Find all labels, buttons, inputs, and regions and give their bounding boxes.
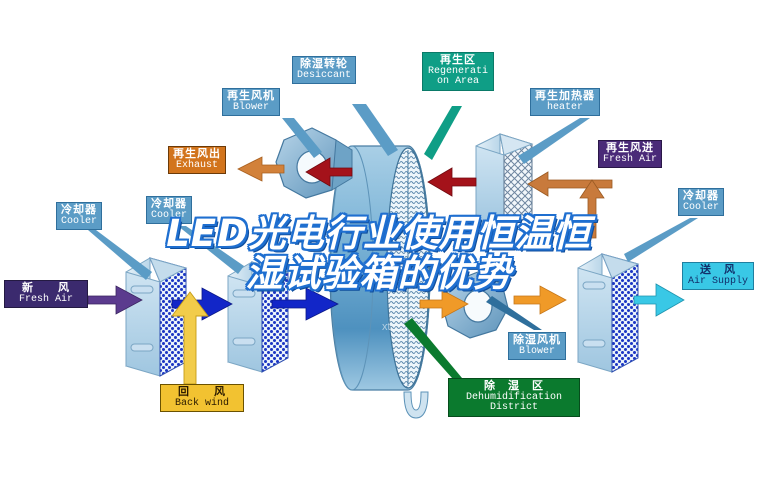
label-cn: 再生风出 [173,149,221,161]
label-cn: 冷却器 [151,199,187,211]
label-en: Regenerati on Area [427,67,489,88]
label-en: Cooler [151,211,187,222]
heater-coil [476,134,532,228]
cooler-coil-3 [578,254,638,372]
label-air-supply[interactable]: 送 风 Air Supply [682,262,754,290]
regen-hot-arrow-2 [428,168,476,196]
label-cn: 除湿风机 [513,335,561,347]
label-en: heater [535,103,595,114]
label-cn: 送 风 [687,265,749,277]
label-cn: 除 湿 区 [453,381,575,393]
label-en: Blower [227,103,275,114]
label-dehum-district[interactable]: 除 湿 区 Dehumidification District [448,378,580,417]
diagram-canvas: xt [0,0,757,488]
label-cooler-left-inner[interactable]: 冷却器 Cooler [146,196,192,224]
label-cooler-left-outer[interactable]: 冷却器 Cooler [56,202,102,230]
label-regen-area[interactable]: 再生区 Regenerati on Area [422,52,494,91]
svg-text:xt: xt [382,321,391,333]
cooler-coil-1 [126,258,186,376]
label-en: Blower [513,347,561,358]
label-en: Exhaust [173,161,221,172]
label-regen-heater[interactable]: 再生加热器 heater [530,88,600,116]
label-back-wind[interactable]: 回 风 Back wind [160,384,244,412]
label-en: Dehumidification District [453,393,575,414]
label-desiccant-wheel[interactable]: 除湿转轮 Desiccant [292,56,356,84]
label-cn: 再生风进 [603,143,657,155]
cooler-coil-2 [228,262,288,372]
label-cn: 再生加热器 [535,91,595,103]
schematic-artwork: xt [0,0,757,488]
drain-pan [404,392,428,418]
label-en: Fresh Air [603,155,657,166]
label-cn: 再生区 [427,55,489,67]
label-cn: 新 风 [9,283,83,295]
supply-arrow [634,284,684,316]
label-en: Desiccant [297,71,351,82]
label-cn: 冷却器 [683,191,719,203]
label-cn: 除湿转轮 [297,59,351,71]
label-dehum-blower[interactable]: 除湿风机 Blower [508,332,566,360]
label-cn: 冷却器 [61,205,97,217]
label-en: Cooler [683,203,719,214]
label-en: Fresh Air [9,295,83,306]
label-cn: 回 风 [165,387,239,399]
label-regen-exhaust[interactable]: 再生风出 Exhaust [168,146,226,174]
label-en: Air Supply [687,277,749,288]
label-cooler-right[interactable]: 冷却器 Cooler [678,188,724,216]
label-regen-blower[interactable]: 再生风机 Blower [222,88,280,116]
label-cn: 再生风机 [227,91,275,103]
regen-air-up [580,180,604,238]
label-en: Back wind [165,399,239,410]
dry-air-arrow-2 [514,286,566,314]
label-regen-fresh-air[interactable]: 再生风进 Fresh Air [598,140,662,168]
label-en: Cooler [61,217,97,228]
label-fresh-air-in[interactable]: 新 风 Fresh Air [4,280,88,308]
